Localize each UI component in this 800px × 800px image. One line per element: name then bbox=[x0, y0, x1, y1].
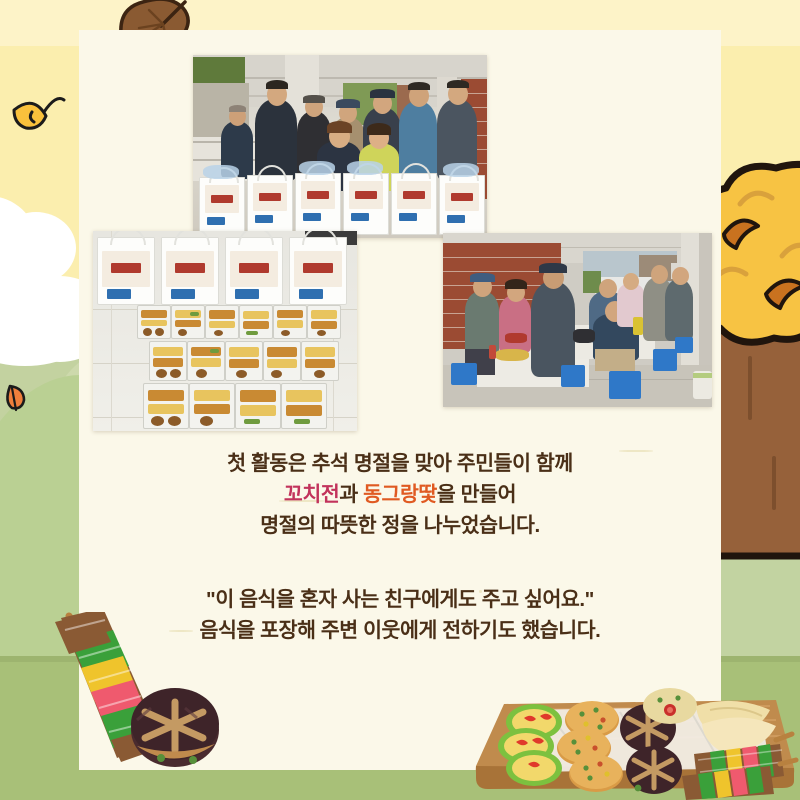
text-segment: 과 bbox=[339, 483, 363, 506]
text-segment: 명절의 따뜻한 정을 나누었습니다. bbox=[260, 514, 540, 537]
photo-cooking bbox=[443, 233, 712, 407]
text-segment: "이 음식을 혼자 사는 친구에게도 주고 싶어요." bbox=[206, 588, 594, 611]
highlight-kkochijeon: 꼬치전 bbox=[284, 483, 339, 506]
text-line: 첫 활동은 추석 명절을 맞아 주민들이 함께 bbox=[79, 448, 721, 479]
paragraph-spacer bbox=[79, 541, 721, 584]
small-orange-leaf-icon bbox=[2, 380, 32, 414]
text-line: 명절의 따뜻한 정을 나누었습니다. bbox=[79, 510, 721, 541]
poster-canvas: 첫 활동은 추석 명절을 맞아 주민들이 함께 꼬치전과 동그랑땇을 만들어 명… bbox=[0, 0, 800, 800]
photo-group bbox=[193, 55, 487, 238]
jeon-platter-illustration bbox=[470, 648, 800, 800]
text-line-quote: "이 음식을 혼자 사는 친구에게도 주고 싶어요." bbox=[79, 584, 721, 615]
photo-food-trays bbox=[93, 231, 357, 431]
text-segment: 을 만들어 bbox=[437, 483, 516, 506]
text-segment: 음식을 포장해 주변 이웃에게 전하기도 했습니다. bbox=[200, 619, 601, 642]
text-line-highlighted: 꼬치전과 동그랑땇을 만들어 bbox=[79, 479, 721, 510]
ginkgo-leaf-icon bbox=[6, 86, 68, 144]
text-segment: 첫 활동은 추석 명절을 맞아 주민들이 함께 bbox=[227, 452, 573, 475]
skewer-illustration bbox=[25, 612, 235, 787]
highlight-donggeurangttaeng: 동그랑땇 bbox=[363, 483, 437, 506]
